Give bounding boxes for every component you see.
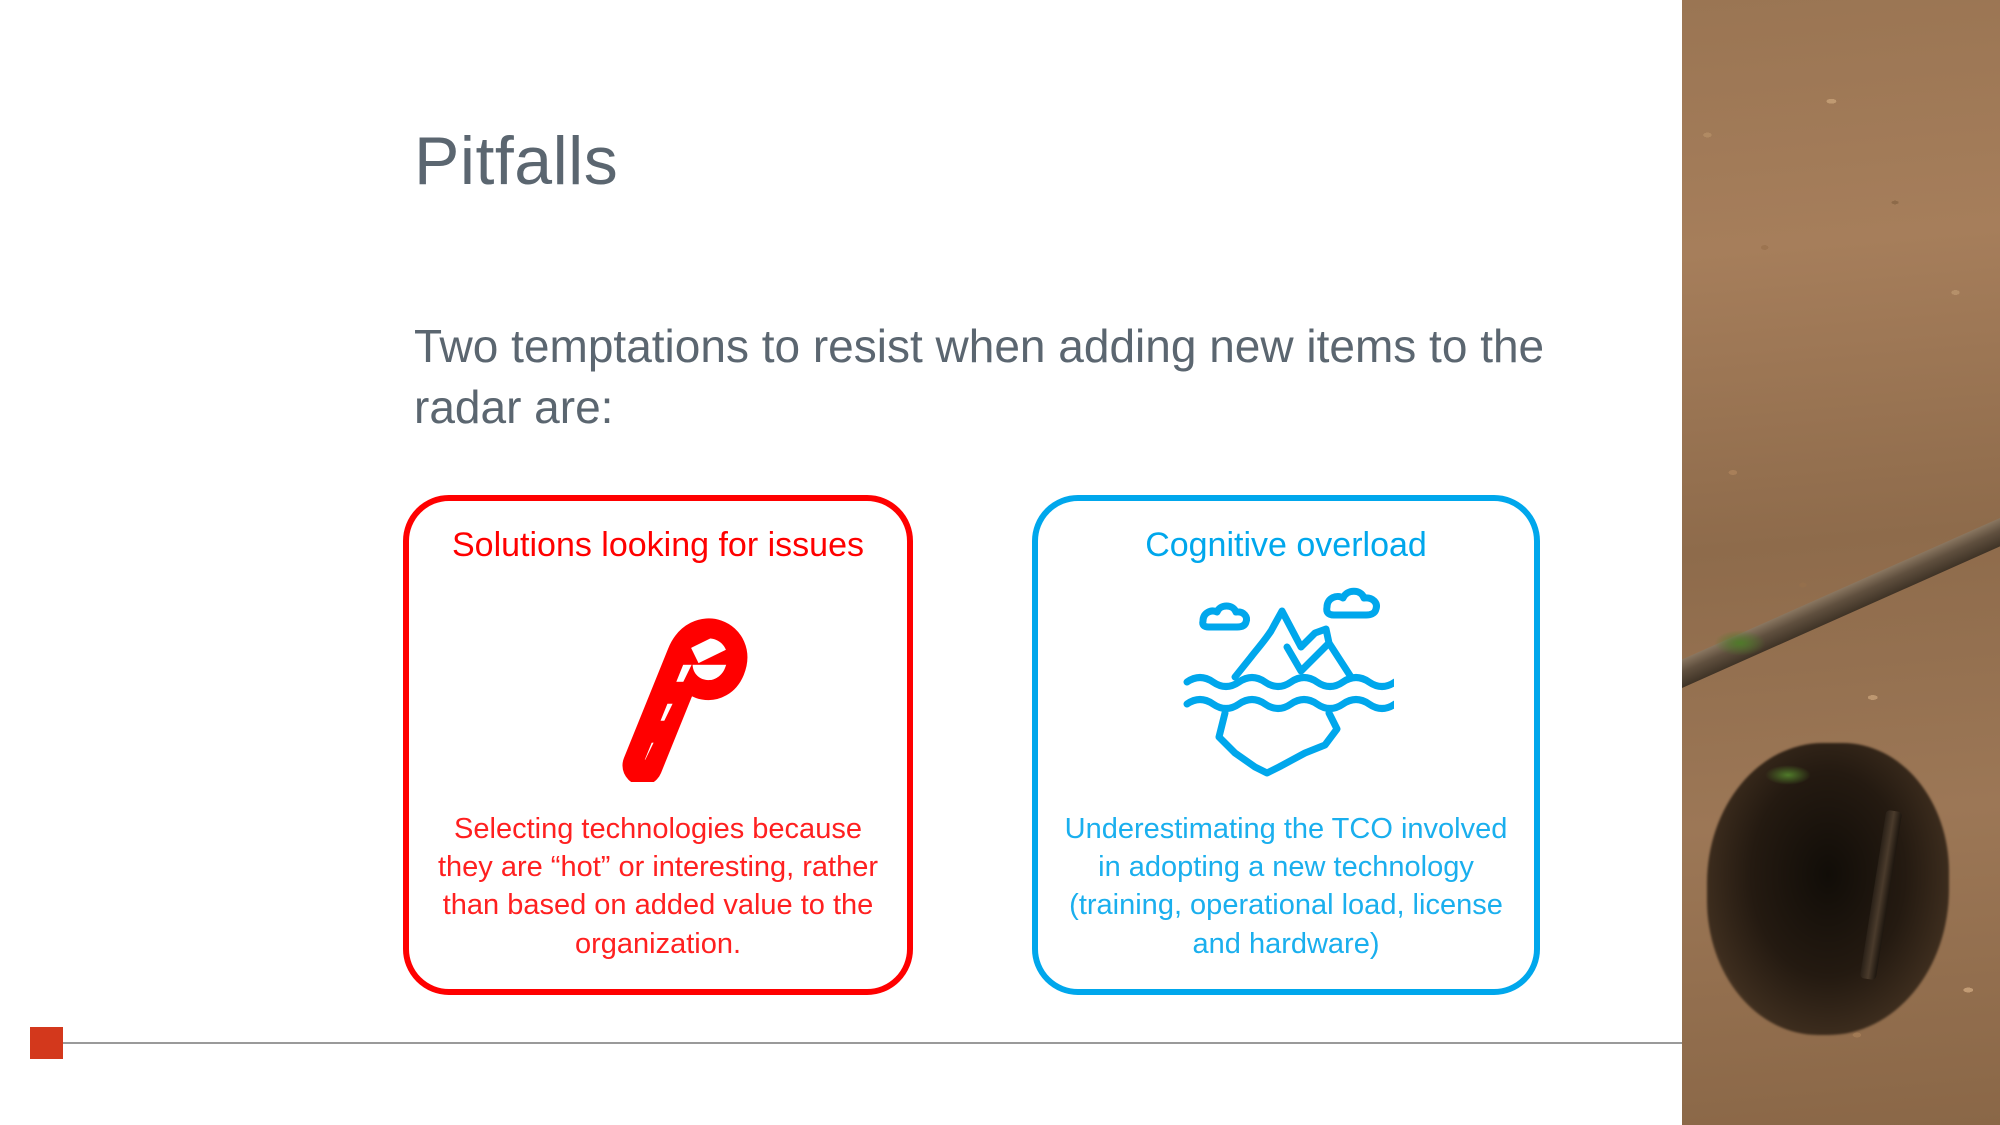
footer-divider-line	[63, 1042, 1682, 1044]
slide-canvas: Pitfalls Two temptations to resist when …	[0, 0, 2000, 1125]
card-body-cognitive: Underestimating the TCO involved in adop…	[1056, 810, 1516, 963]
card-cognitive-overload[interactable]: Cognitive overload U	[1032, 495, 1540, 995]
card-title-solutions: Solutions looking for issues	[452, 525, 864, 566]
footer-accent-square	[30, 1027, 63, 1059]
card-solutions-looking-for-issues[interactable]: Solutions looking for issues	[403, 495, 913, 995]
forest-floor-pit-photo	[1682, 0, 2000, 1125]
card-body-solutions: Selecting technologies because they are …	[427, 810, 889, 963]
candy-cane-icon	[566, 580, 751, 780]
card-title-cognitive: Cognitive overload	[1145, 525, 1427, 566]
page-title: Pitfalls	[414, 125, 618, 198]
iceberg-icon	[1179, 580, 1394, 780]
slide-subtitle: Two temptations to resist when adding ne…	[414, 316, 1554, 438]
